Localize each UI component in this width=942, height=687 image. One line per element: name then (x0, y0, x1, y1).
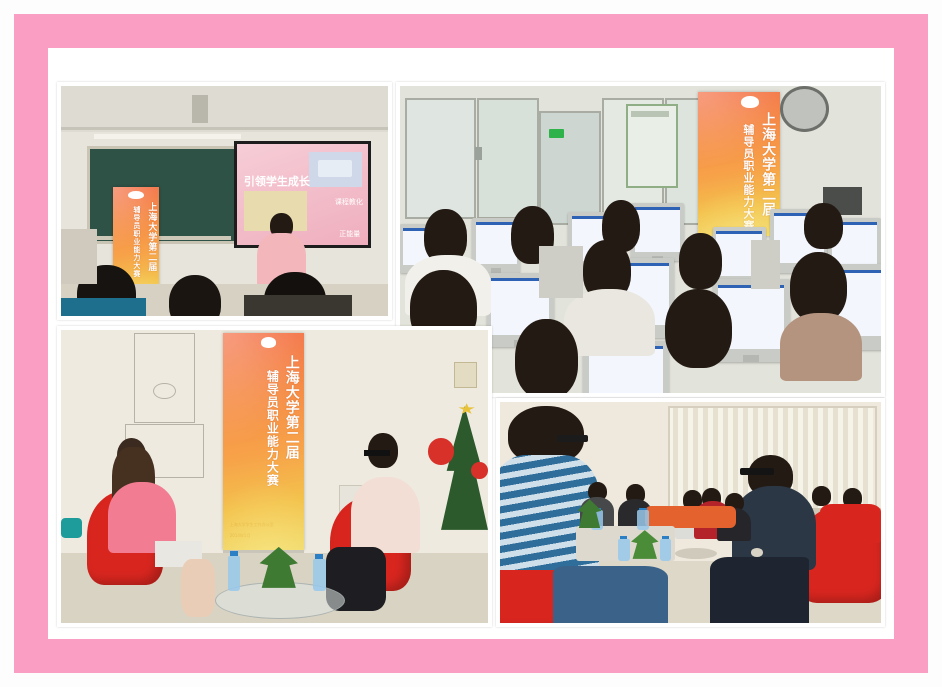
desk-divider (751, 240, 780, 289)
christmas-ornament (428, 438, 454, 464)
fluorescent-lamp (94, 134, 241, 139)
monitor-screen (635, 207, 681, 252)
wall-column-graphic (134, 333, 196, 423)
participant-head (665, 289, 732, 369)
banner-text-line2: 辅导员职业能力大赛 (742, 124, 754, 232)
water-bottle (228, 556, 241, 591)
competition-banner-interview: 上海大学第二届 辅导员职业能力大赛 上海大学学生工作办公室 2014年5月 (223, 333, 304, 550)
participant-head (679, 233, 722, 288)
glasses-icon (364, 450, 390, 456)
audience-shoulder-1 (61, 298, 146, 316)
water-bottle (313, 559, 326, 591)
judge-head (812, 486, 831, 506)
chalkboard (87, 146, 237, 244)
glass-partition-1 (405, 98, 476, 219)
interview-scene: 上海大学第二届 辅导员职业能力大赛 上海大学学生工作办公室 2014年5月 (61, 330, 488, 623)
desk-divider (539, 246, 582, 298)
interviewee-body-right (351, 477, 419, 553)
participant-head (804, 203, 842, 249)
banner-text-line1: 上海大学第二届 (146, 202, 155, 272)
slide-subtitle-bottom: 正能量 (339, 229, 360, 239)
water-bottle (660, 539, 671, 561)
participant-head (790, 252, 848, 323)
side-cabinet (61, 229, 97, 284)
competition-banner-lab: 上海大学第二届 辅导员职业能力大赛 (698, 92, 780, 236)
photo-discussion[interactable] (496, 398, 885, 627)
banner-logo-icon (741, 96, 759, 108)
presentation-scene: 引领学生成长 课程教化 正能量 上海大学第二届 辅导员职业能力大赛 (61, 86, 388, 316)
water-bottle (618, 539, 629, 561)
participant-jeans-foreground (553, 566, 667, 623)
wall-clock-icon (780, 86, 829, 132)
participant-body (564, 289, 655, 357)
collage-canvas: 引领学生成长 课程教化 正能量 上海大学第二届 辅导员职业能力大赛 (48, 72, 894, 637)
participant-body (780, 313, 862, 381)
red-chair-background (820, 504, 881, 544)
chalkboard-rail (87, 236, 231, 240)
wall-sign (454, 362, 477, 387)
banner-logo-icon (261, 337, 276, 348)
bottle-cap (315, 554, 323, 559)
banner-footer-line2: 2014年5月 (230, 534, 251, 539)
exit-sign-icon (549, 129, 563, 138)
round-side-table (675, 548, 717, 559)
light-fixture (192, 95, 208, 123)
photo-presentation[interactable]: 引领学生成长 课程教化 正能量 上海大学第二届 辅导员职业能力大赛 (57, 82, 392, 320)
participant-trousers-right (710, 557, 809, 623)
ceiling-beam (61, 127, 388, 130)
glasses-icon (740, 468, 774, 475)
banner-text-line2: 辅导员职业能力大赛 (266, 370, 279, 487)
banner-text-line1: 上海大学第二届 (284, 355, 299, 460)
glass-partition-2 (477, 98, 539, 219)
slide-image-projector-body (318, 160, 352, 176)
ceiling (61, 86, 388, 132)
photo-interview[interactable]: 上海大学第二届 辅导员职业能力大赛 上海大学学生工作办公室 2014年5月 (57, 326, 492, 627)
glass-door (539, 111, 601, 226)
banner-footer-line1: 上海大学学生工作办公室 (230, 523, 274, 528)
slide-subtitle-right: 课程教化 (335, 197, 363, 207)
bottle-cap (620, 536, 627, 539)
participant-head (515, 319, 578, 393)
projection-screen: 引领学生成长 课程教化 正能量 (234, 141, 371, 248)
wristwatch-icon (751, 548, 762, 557)
slide-title: 引领学生成长 (244, 173, 310, 189)
door-handle-icon (475, 147, 483, 159)
teal-stool (61, 518, 82, 539)
notice-board (626, 104, 678, 188)
bottle-cap (230, 551, 238, 556)
interviewee-leg-left (181, 559, 215, 618)
discussion-scene (500, 402, 881, 623)
glasses-icon (557, 435, 587, 442)
orange-sofa (645, 506, 736, 528)
banner-logo-icon (128, 191, 144, 199)
water-bottle (637, 510, 648, 530)
banner-text-line1: 上海大学第二届 (760, 112, 775, 217)
audience-shoulder-3 (244, 295, 352, 316)
banner-text-line2: 辅导员职业能力大赛 (133, 206, 140, 278)
photo-collage-poster: 引领学生成长 课程教化 正能量 上海大学第二届 辅导员职业能力大赛 (0, 0, 942, 687)
bottle-cap (639, 508, 646, 511)
notice-board-title (631, 111, 669, 117)
bottle-cap (662, 536, 669, 539)
